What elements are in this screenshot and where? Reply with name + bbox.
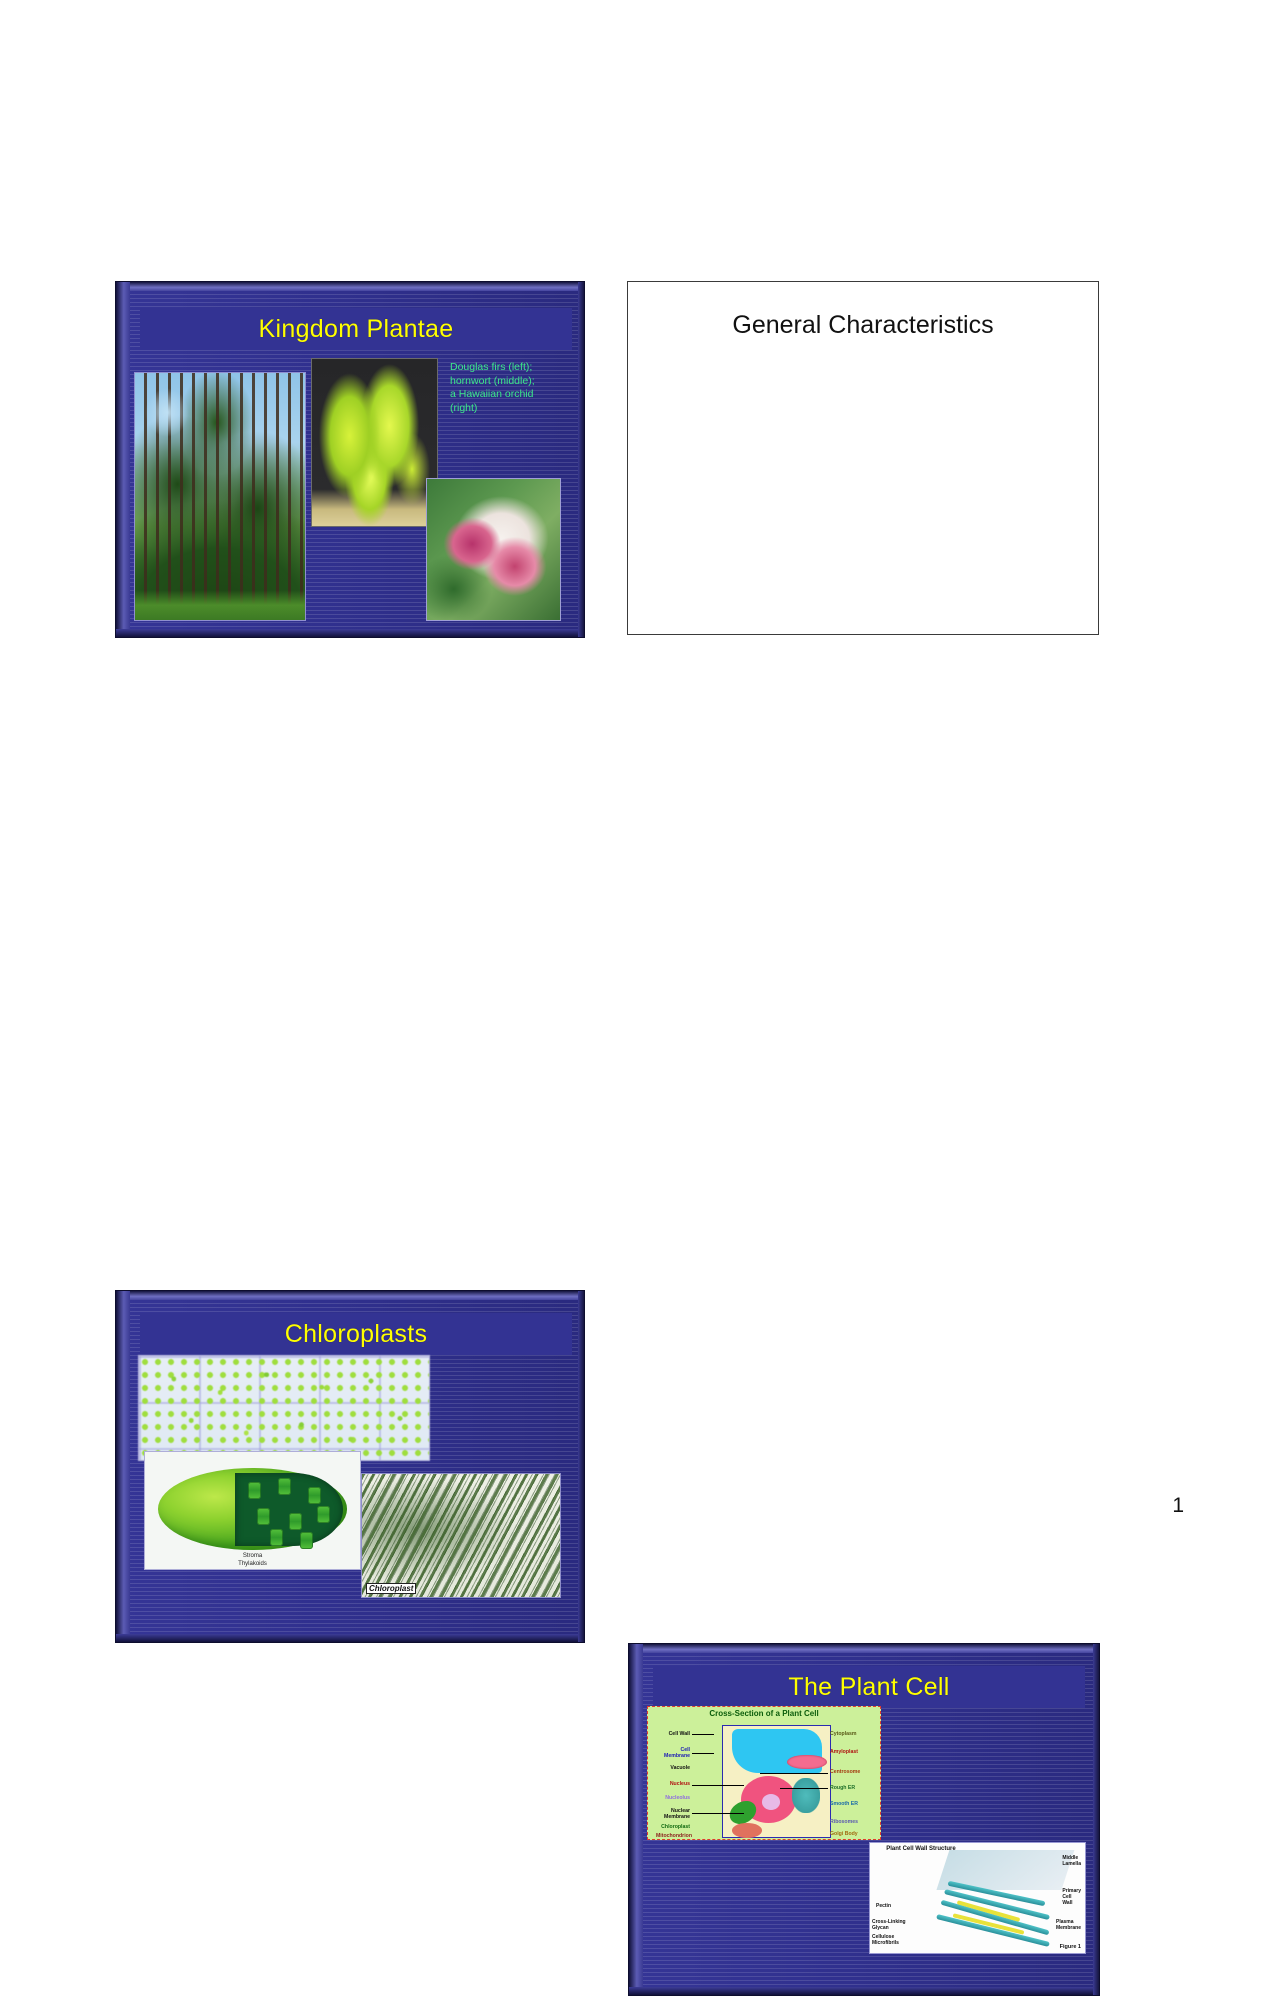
cell-label-nucleus: Nucleus [650, 1781, 690, 1787]
cellwall-label-pectin: Pectin [876, 1903, 891, 1909]
douglas-firs-photo [134, 372, 306, 621]
slide-general-characteristics[interactable]: General Characteristics [627, 281, 1099, 635]
cell-label-centrosome: Centrosome [830, 1769, 860, 1775]
slide-title-band: Chloroplasts [140, 1313, 572, 1355]
leader-line [692, 1813, 744, 1814]
figure-number: Figure 1 [1060, 1944, 1081, 1950]
slide-bevel-top [116, 1291, 584, 1300]
slide-bevel-left [629, 1644, 643, 1995]
leaf-cells-micrograph [138, 1355, 430, 1461]
cellwall-label-cellulose-microfibrils: Cellulose Microfibrils [872, 1934, 899, 1946]
granum [300, 1532, 313, 1549]
golgi-body-shape [792, 1778, 820, 1812]
cell-label-nucleolus: Nucleolus [650, 1795, 690, 1801]
slide-bevel-bottom [116, 629, 584, 637]
slide-bevel-right [578, 1291, 584, 1642]
cell-label-vacuole: Vacuole [650, 1765, 690, 1771]
figure-title: Cross-Section of a Plant Cell [648, 1709, 880, 1718]
cellwall-label-cross-linking-glycan: Cross-Linking Glycan [872, 1919, 906, 1931]
cell-label-golgi-body: Golgi Body [830, 1831, 858, 1837]
slide-bevel-left [116, 1291, 130, 1642]
slide-title: The Plant Cell [788, 1673, 949, 1702]
granum [289, 1513, 302, 1530]
photo-caption: Douglas firs (left); hornwort (middle); … [450, 361, 574, 415]
slide-title: Kingdom Plantae [259, 315, 454, 344]
plant-cell-cross-section-figure: Cross-Section of a Plant Cell Cell Wall … [647, 1706, 881, 1840]
leader-line [692, 1734, 714, 1735]
cell-label-nuclear-membrane: Nuclear Membrane [650, 1808, 690, 1820]
granum [248, 1482, 261, 1499]
chloroplast-diagram: Stroma Thylakoids [144, 1451, 361, 1570]
chloroplast-tem-label: Chloroplast [366, 1583, 416, 1594]
slide-title-band: Kingdom Plantae [140, 308, 572, 350]
slide-bevel-top [629, 1644, 1099, 1653]
hornwort-photo [311, 358, 438, 527]
leader-line [692, 1785, 744, 1786]
slide-bevel-right [578, 282, 584, 637]
slide-bevel-left [116, 282, 130, 637]
cell-label-chloroplast: Chloroplast [650, 1824, 690, 1830]
page-number: 1 [1172, 1494, 1184, 1518]
hawaiian-orchid-photo [426, 478, 561, 621]
plant-cell-wall-structure-figure: Plant Cell Wall Structure Pectin Cross-L… [869, 1842, 1086, 1954]
slide-title-band: The Plant Cell [653, 1666, 1085, 1708]
slide-bevel-top [116, 282, 584, 291]
granum [278, 1478, 291, 1495]
cell-label-cytoplasm: Cytoplasm [830, 1731, 857, 1737]
granum [270, 1529, 283, 1546]
cellwall-label-plasma-membrane: Plasma Membrane [1056, 1919, 1081, 1931]
slide-title: General Characteristics [628, 311, 1098, 340]
slide-the-plant-cell[interactable]: The Plant Cell Cross-Section of a Plant … [628, 1643, 1100, 1996]
granum [308, 1487, 321, 1504]
leader-line [780, 1788, 828, 1789]
chloroplast-tem: Chloroplast [361, 1473, 561, 1598]
chloroplast-label-stroma: Stroma [145, 1552, 360, 1560]
leader-line [692, 1753, 714, 1754]
cellwall-label-middle-lamella: Middle Lamella [1062, 1855, 1081, 1867]
cell-label-cell-wall: Cell Wall [650, 1731, 690, 1737]
slide-title: Chloroplasts [285, 1320, 428, 1349]
nucleolus-shape [762, 1794, 781, 1810]
granum [317, 1506, 330, 1523]
cell-label-cell-membrane: Cell Membrane [650, 1747, 690, 1759]
leader-line [760, 1773, 828, 1774]
cell-label-ribosomes: Ribosomes [830, 1819, 858, 1825]
chloroplast-label-thylakoids: Thylakoids [145, 1560, 360, 1568]
cell-label-rough-er: Rough ER [830, 1785, 855, 1791]
sky-highlight [145, 388, 189, 437]
cellwall-label-primary-cell-wall: Primary Cell Wall [1062, 1888, 1081, 1906]
slide-bevel-bottom [629, 1987, 1099, 1995]
cell-label-amyloplast: Amyloplast [830, 1749, 858, 1755]
cell-label-smooth-er: Smooth ER [830, 1801, 858, 1807]
mitochondrion-shape [732, 1823, 762, 1838]
slide-kingdom-plantae[interactable]: Kingdom Plantae Douglas firs (left); hor… [115, 281, 585, 638]
rough-er-shape [787, 1755, 826, 1770]
slide-chloroplasts[interactable]: Chloroplasts Stroma Thylakoids Chloropla… [115, 1290, 585, 1643]
slide-bevel-bottom [116, 1634, 584, 1642]
slide-bevel-right [1093, 1644, 1099, 1995]
cell-label-mitochondrion: Mitochondrion [648, 1833, 692, 1839]
granum [257, 1508, 270, 1525]
